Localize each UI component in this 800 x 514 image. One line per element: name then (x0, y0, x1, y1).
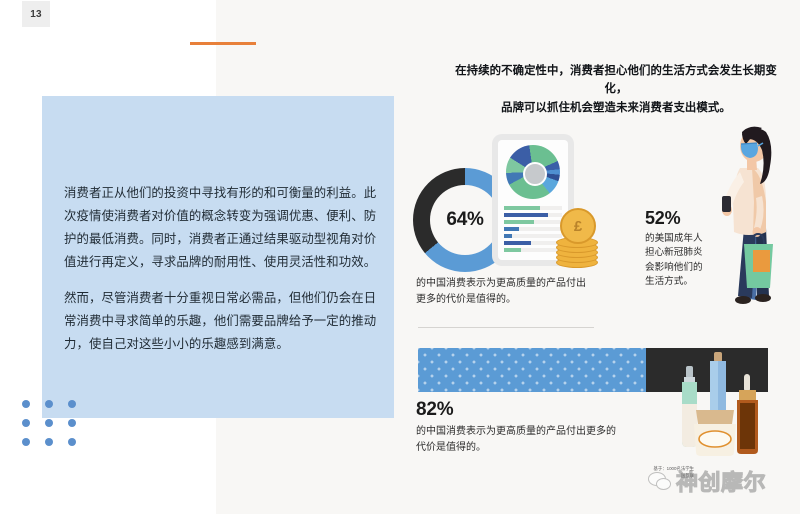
body-paragraph-2: 然而，尽管消费者十分重视日常必需品，但他们仍会在日常消费中寻求简单的乐趣，他们需… (64, 287, 380, 356)
stat-52-caption: 的美国成年人担心新冠肺炎会影响他们的生活方式。 (645, 232, 707, 290)
body-copy: 消费者正从他们的投资中寻找有形的和可衡量的利益。此次疫情使消费者对价值的概念转变… (64, 182, 380, 356)
slide-page: 13 消费者正从他们的投资中寻找有形的和可衡量的利益。此次疫情使消费者对价值的概… (0, 0, 800, 514)
chat-bubble-icon (648, 472, 674, 490)
dot (68, 419, 76, 427)
cosmetics-products-illustration (660, 348, 790, 466)
body-paragraph-1: 消费者正从他们的投资中寻找有形的和可衡量的利益。此次疫情使消费者对价值的概念转变… (64, 182, 380, 274)
donut-value-label: 64% (413, 168, 517, 272)
blue-dotted-band (418, 348, 646, 392)
dot (22, 419, 30, 427)
coin-stack-illustration: £ (556, 208, 600, 268)
dot (68, 400, 76, 408)
wechat-watermark: 神创摩尔 (648, 458, 800, 504)
stat-52-value: 52% (645, 208, 707, 230)
orange-accent-rule (190, 42, 256, 45)
dot (45, 438, 53, 446)
decorative-dot-grid (22, 400, 91, 457)
dot (22, 400, 30, 408)
stat-82-value: 82% (416, 398, 616, 422)
page-number-badge: 13 (22, 1, 50, 27)
watermark-text: 神创摩尔 (676, 465, 766, 497)
woman-with-mask-illustration (700, 110, 800, 310)
coin-face: £ (560, 208, 596, 244)
stat-block-82: 82% 的中国消费表示为更高质量的产品付出更多的代价是值得的。 (416, 398, 616, 456)
section-divider (418, 327, 594, 328)
donut-chart-64: 64% (413, 168, 517, 272)
stat-82-caption: 的中国消费表示为更高质量的产品付出更多的代价是值得的。 (416, 424, 616, 456)
headline-line-1: 在持续的不确定性中，消费者担心他们的生活方式会发生长期变化， (444, 62, 788, 99)
dot (45, 419, 53, 427)
dot (45, 400, 53, 408)
dot (22, 438, 30, 446)
stat-block-52: 52% 的美国成年人担心新冠肺炎会影响他们的生活方式。 (645, 208, 707, 290)
donut-caption: 的中国消费表示为更高质量的产品付出更多的代价是值得的。 (416, 276, 592, 308)
dot (68, 438, 76, 446)
